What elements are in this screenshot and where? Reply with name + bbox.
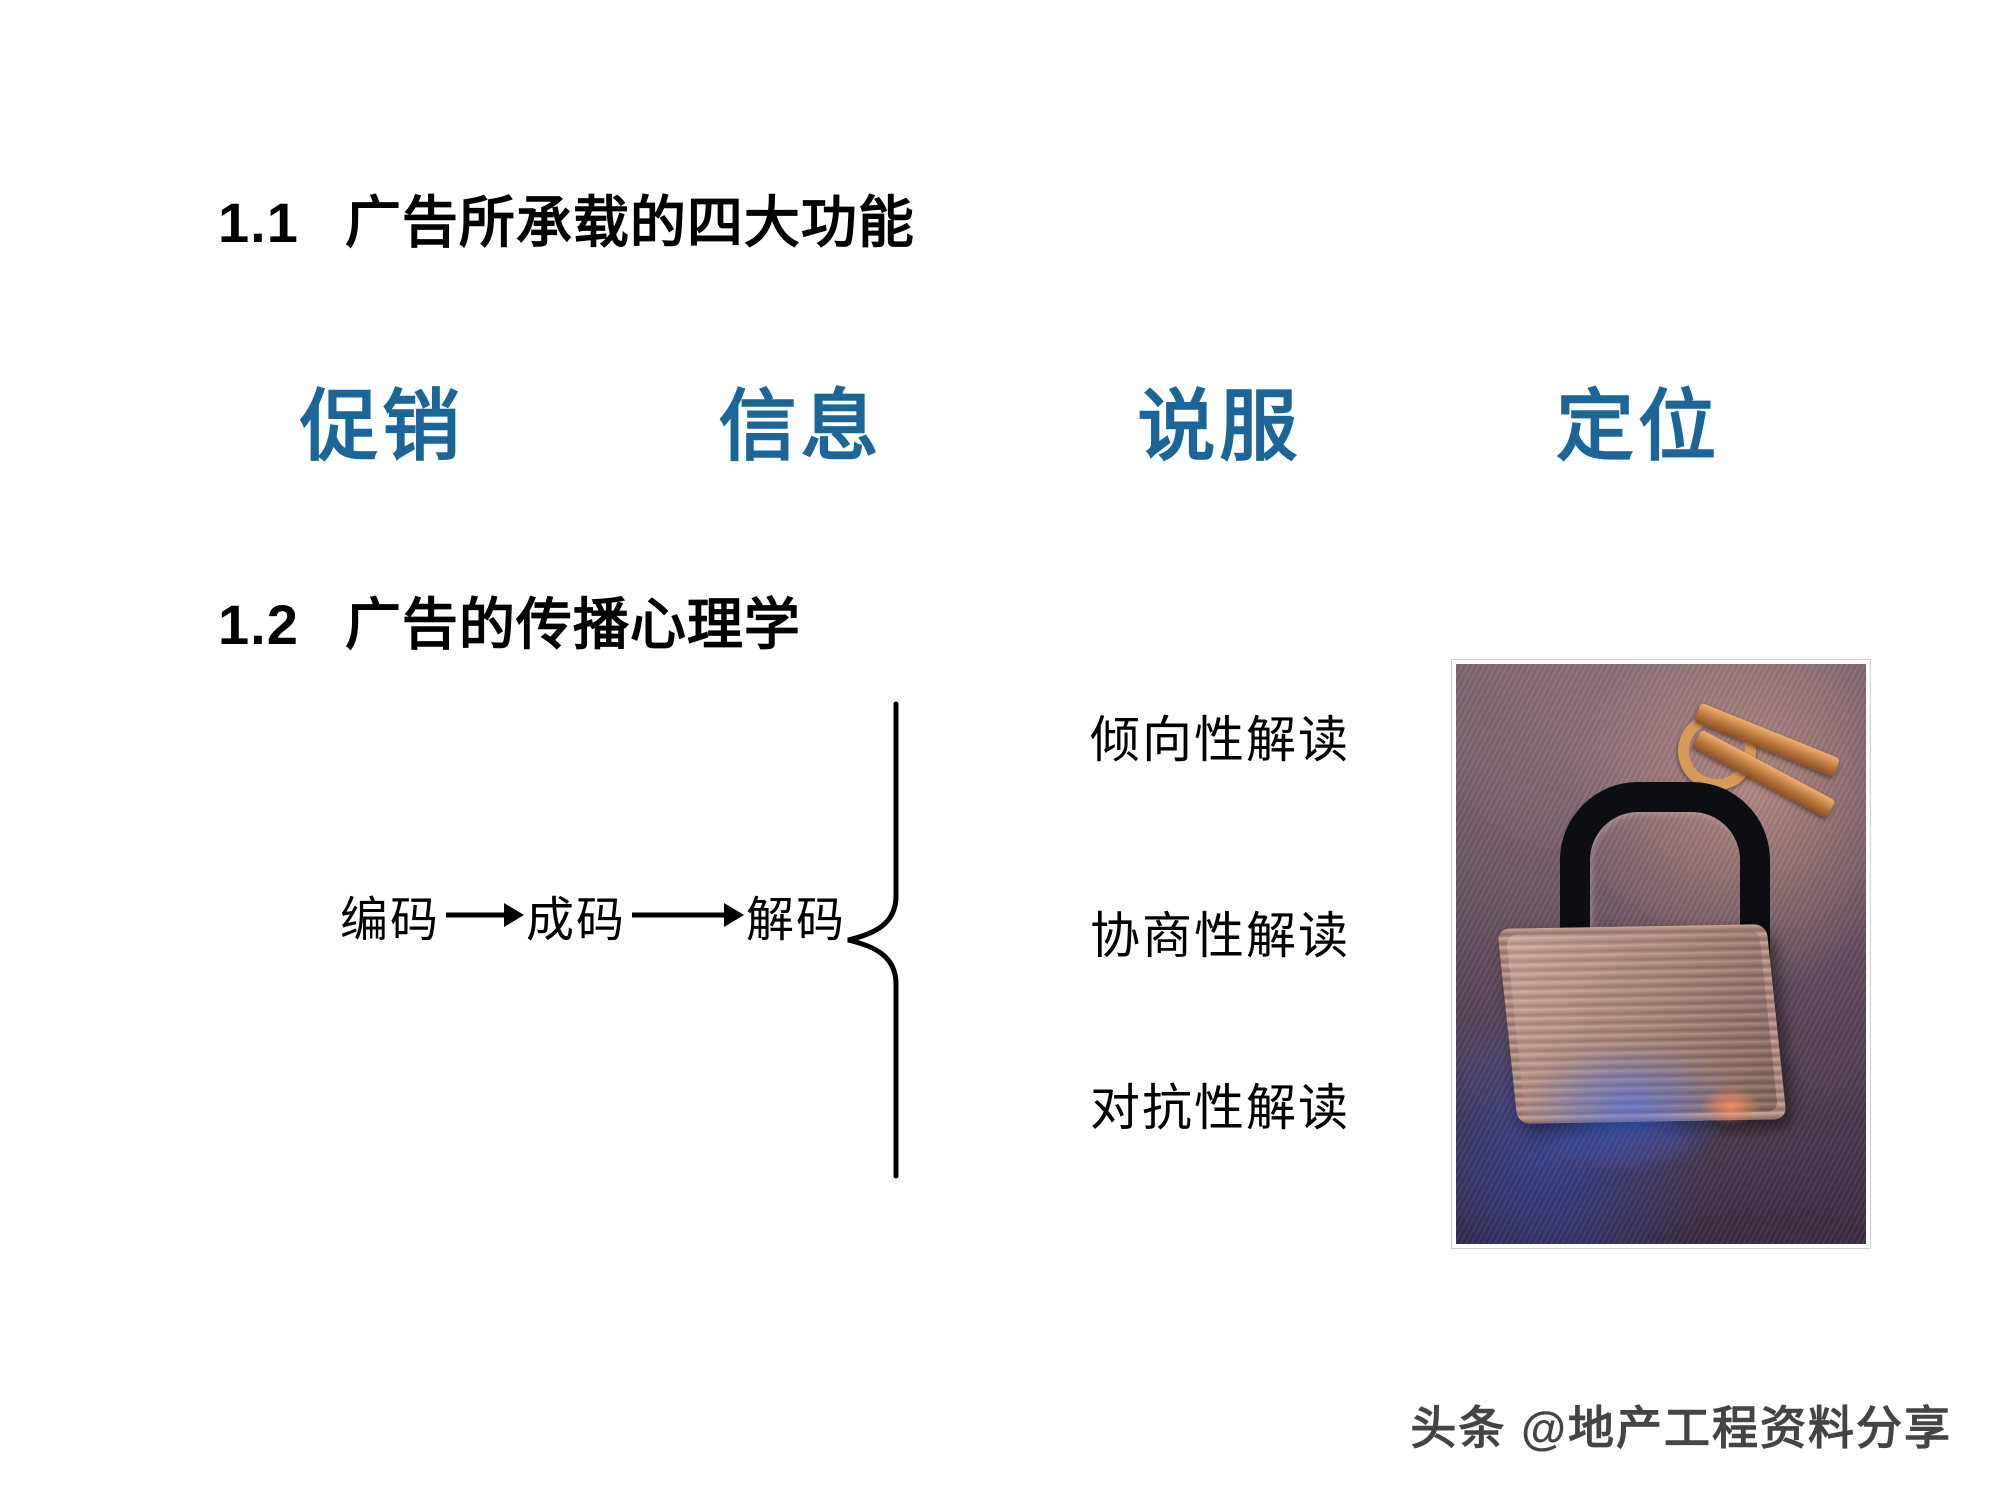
padlock-with-keys-photo bbox=[1452, 660, 1870, 1248]
watermark-text: 头条 @地产工程资料分享 bbox=[1410, 1392, 1952, 1458]
section-heading-1-1: 1.1广告所承载的四大功能 bbox=[218, 178, 915, 259]
section-number-1-2: 1.2 bbox=[218, 593, 299, 656]
arrow-right-icon bbox=[626, 891, 746, 939]
advertising-functions-row: 促销 信息 说服 定位 bbox=[300, 388, 1720, 466]
section-title-1-1: 广告所承载的四大功能 bbox=[345, 193, 915, 255]
section-title-1-2: 广告的传播心理学 bbox=[345, 595, 801, 657]
function-word-persuasion: 说服 bbox=[1137, 388, 1301, 466]
branch-item-negotiated-reading: 协商性解读 bbox=[1090, 896, 1350, 968]
curly-brace-icon bbox=[800, 700, 920, 1180]
section-number-1-1: 1.1 bbox=[218, 191, 299, 254]
function-word-information: 信息 bbox=[719, 388, 883, 466]
arrow-right-icon bbox=[440, 891, 526, 939]
branch-item-preferred-reading: 倾向性解读 bbox=[1090, 700, 1350, 772]
function-word-positioning: 定位 bbox=[1556, 388, 1720, 466]
flow-node-forming: 成码 bbox=[526, 880, 626, 950]
section-heading-1-2: 1.2广告的传播心理学 bbox=[218, 580, 801, 661]
communication-flow-diagram: 编码 成码 解码 bbox=[340, 880, 846, 950]
slide-canvas: 1.1广告所承载的四大功能 促销 信息 说服 定位 1.2广告的传播心理学 编码… bbox=[0, 0, 2000, 1500]
decoding-branch-list: 倾向性解读 协商性解读 对抗性解读 bbox=[1090, 700, 1490, 1180]
orange-light-flare bbox=[1688, 1080, 1774, 1132]
flow-node-encoding: 编码 bbox=[340, 880, 440, 950]
function-word-promotion: 促销 bbox=[300, 388, 464, 466]
branch-item-oppositional-reading: 对抗性解读 bbox=[1090, 1068, 1350, 1140]
